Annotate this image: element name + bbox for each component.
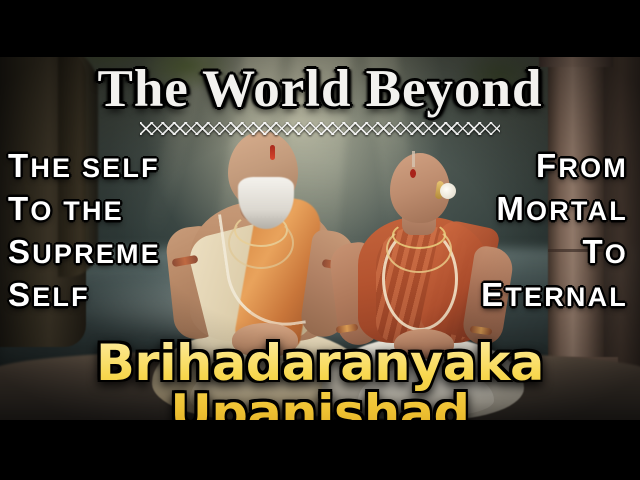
right-tagline-line-2: MORTAL [481, 188, 628, 231]
right-tagline-line-4: ETERNAL [481, 274, 628, 317]
right-tagline: FROM MORTAL TO ETERNAL [481, 145, 628, 317]
diamond-zigzag-ornament-icon [140, 122, 500, 135]
left-tagline: THE SELF TO THE SUPREME SELF [8, 145, 161, 317]
left-tagline-line-1: THE SELF [8, 145, 161, 188]
right-tagline-line-3: TO [481, 231, 628, 274]
letterbox-bar-top [0, 0, 640, 57]
letterbox-bar-bottom [0, 420, 640, 480]
right-tagline-line-1: FROM [481, 145, 628, 188]
left-tagline-line-2: TO THE [8, 188, 161, 231]
left-tagline-line-4: SELF [8, 274, 161, 317]
left-tagline-line-3: SUPREME [8, 231, 161, 274]
text-overlay: The World Beyond THE SELF TO THE SUPREME… [0, 57, 640, 420]
video-thumbnail: The World Beyond THE SELF TO THE SUPREME… [0, 0, 640, 480]
main-title: The World Beyond [0, 63, 640, 116]
